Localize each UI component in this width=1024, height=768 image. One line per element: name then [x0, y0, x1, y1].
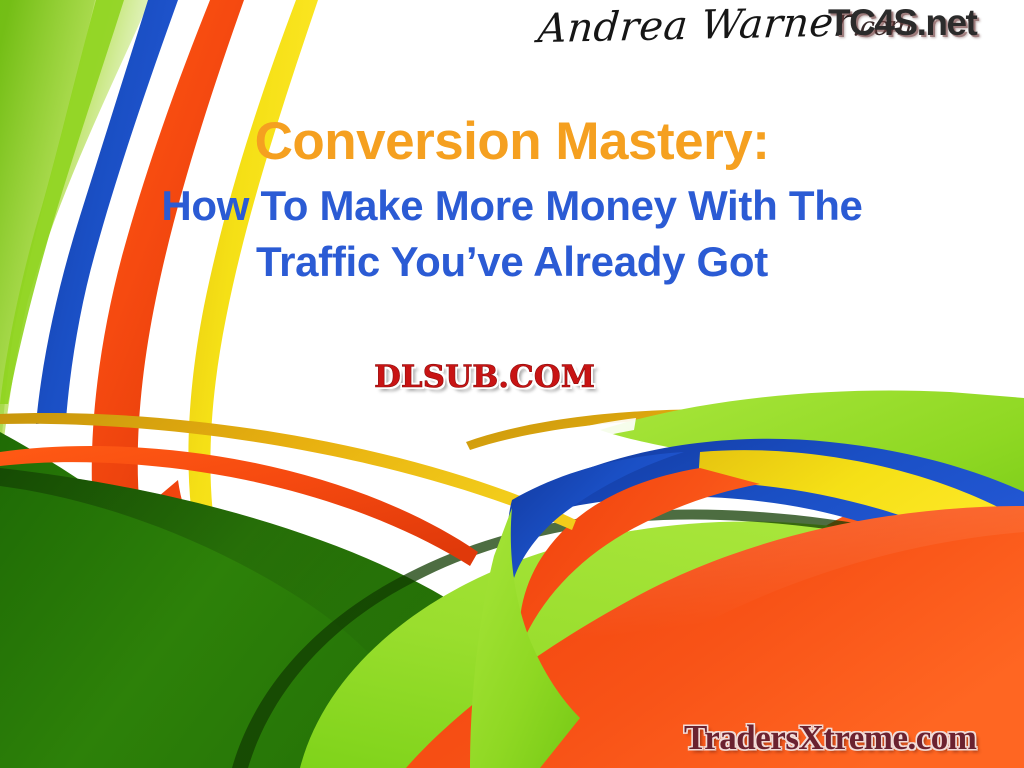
- tc4s-watermark: TC4S.net: [828, 2, 976, 44]
- dlsub-watermark: DLSUB.COM: [368, 357, 601, 397]
- tradersxtreme-watermark: TradersXtreme.com: [684, 718, 976, 758]
- signature-name: Andrea Warner: [536, 0, 855, 52]
- presentation-slide: Andrea Warner.com TC4S.net Conversion Ma…: [0, 0, 1024, 768]
